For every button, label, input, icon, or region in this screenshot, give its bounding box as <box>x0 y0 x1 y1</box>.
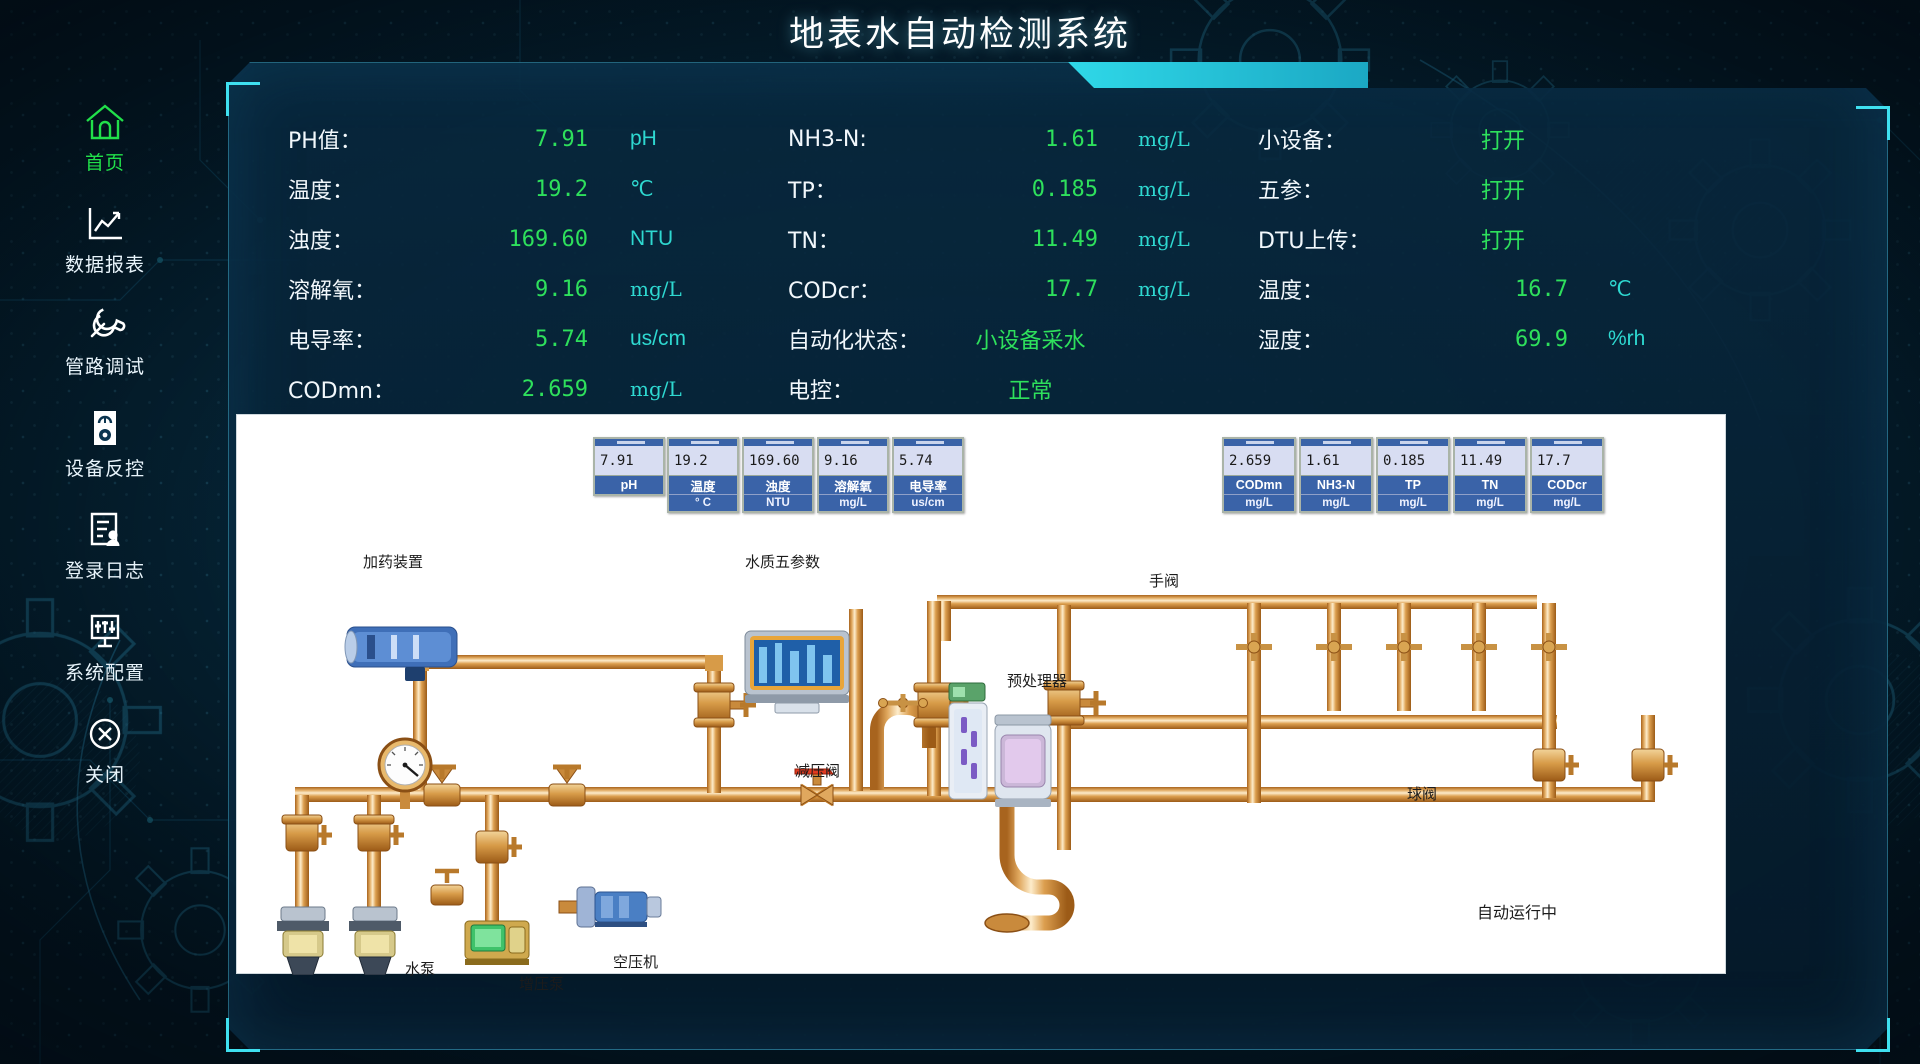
readout-unit: %rh <box>1608 327 1645 351</box>
readout-unit: mg/L <box>1138 277 1190 301</box>
label-hand-valve: 手阀 <box>1149 570 1179 591</box>
readout-value: 正常 <box>963 373 1098 405</box>
readout-row-electric-control: 电控： 正常 <box>788 364 1218 414</box>
gauge-cap <box>1455 439 1525 446</box>
gauge-name: 温度 <box>669 475 737 494</box>
readout-label: 自动化状态： <box>788 323 963 355</box>
label-pretreatment: 预处理器 <box>1007 670 1067 691</box>
label-boost-pump: 增压泵 <box>519 973 564 994</box>
readout-row: 小设备： 打开 <box>1258 114 1728 164</box>
panel-corner-top-right <box>1856 106 1890 140</box>
readout-value: 7.91 <box>458 127 588 152</box>
readout-row: 浊度： 169.60 NTU <box>288 214 718 264</box>
label-relief-valve: 减压阀 <box>795 760 840 781</box>
panel-corner-bottom-left <box>226 1018 260 1052</box>
readout-unit: us/cm <box>630 327 686 351</box>
sidebar-item-device-control[interactable]: 设备反控 <box>40 406 170 494</box>
gauge-name: NH3-N <box>1301 475 1371 494</box>
readout-value: 19.2 <box>458 177 588 202</box>
readout-row-automation-state: 自动化状态： 小设备采水 <box>788 314 1218 364</box>
sidebar-item-label: 登录日志 <box>65 556 145 583</box>
gauge-box: 17.7 CODcr mg/L <box>1530 437 1604 513</box>
readout-value: 17.7 <box>963 277 1098 302</box>
five-parameter-analyzer-icon <box>745 631 849 713</box>
gauge-unit: mg/L <box>819 494 887 511</box>
gauge-box: 0.185 TP mg/L <box>1376 437 1450 513</box>
gauge-name: 溶解氧 <box>819 475 887 494</box>
sidebar-item-label: 首页 <box>85 148 125 175</box>
gauge-name: 电导率 <box>894 475 962 494</box>
gauge-name: TN <box>1455 475 1525 494</box>
readout-row: 湿度： 69.9 %rh <box>1258 314 1728 364</box>
chart-icon <box>84 202 126 246</box>
status-badge: 打开 <box>1438 223 1568 255</box>
readout-value: 11.49 <box>963 227 1098 252</box>
boost-pump-icon <box>465 921 529 965</box>
readout-value: 1.61 <box>963 127 1098 152</box>
readout-value: 16.7 <box>1438 277 1568 302</box>
readout-value: 69.9 <box>1438 327 1568 352</box>
gauge-box: 5.74 电导率 us/cm <box>892 437 964 513</box>
readout-column-water-quality: PH值： 7.91 pH 温度： 19.2 ℃ 浊度： 169.60 NTU 溶… <box>288 114 718 414</box>
sidebar-item-data-report[interactable]: 数据报表 <box>40 202 170 290</box>
gauge-value: 7.91 <box>595 446 663 475</box>
readout-row: TP： 0.185 mg/L <box>788 164 1218 214</box>
gauge-unit: mg/L <box>1378 494 1448 511</box>
gauge-cap <box>595 439 663 446</box>
gauge-box: 1.61 NH3-N mg/L <box>1299 437 1373 513</box>
readout-label: 小设备： <box>1258 123 1438 155</box>
readout-label: 电控： <box>788 373 963 405</box>
readout-label: 浊度： <box>288 223 458 255</box>
label-air-compressor: 空压机 <box>613 951 658 972</box>
log-user-icon <box>85 508 125 552</box>
label-water-pump: 水泵 <box>405 958 435 979</box>
readout-column-device-status: 小设备： 打开 五参： 打开 DTU上传： 打开 温度： 16.7 ℃ 湿度： … <box>1258 114 1728 364</box>
readout-label: CODmn： <box>288 373 458 405</box>
readout-row: CODmn： 2.659 mg/L <box>288 364 718 414</box>
status-badge: 打开 <box>1438 123 1568 155</box>
readout-label: CODcr： <box>788 273 963 305</box>
gauge-box: 9.16 溶解氧 mg/L <box>817 437 889 513</box>
device-icon <box>85 406 125 450</box>
readout-row: 温度： 16.7 ℃ <box>1258 264 1728 314</box>
sidebar-item-login-log[interactable]: 登录日志 <box>40 508 170 596</box>
sidebar-item-label: 数据报表 <box>65 250 145 277</box>
gauge-cap <box>1378 439 1448 446</box>
readout-label: 溶解氧： <box>288 273 458 305</box>
gauge-unit: mg/L <box>1301 494 1371 511</box>
readout-unit: mg/L <box>1138 227 1190 251</box>
gauge-value: 1.61 <box>1301 446 1371 475</box>
readout-label: 电导率： <box>288 323 458 355</box>
readout-row: 溶解氧： 9.16 mg/L <box>288 264 718 314</box>
readout-row: CODcr： 17.7 mg/L <box>788 264 1218 314</box>
sliders-icon <box>84 610 126 654</box>
gauge-unit: us/cm <box>894 494 962 511</box>
gauge-box: 7.91 pH <box>593 437 665 496</box>
water-pump-icon <box>349 907 401 975</box>
readout-unit: mg/L <box>630 377 682 401</box>
readout-row: NH3-N: 1.61 mg/L <box>788 114 1218 164</box>
close-x-icon <box>85 712 125 756</box>
dosing-device-icon <box>345 627 457 681</box>
readout-unit: mg/L <box>1138 127 1190 151</box>
gauge-value: 2.659 <box>1224 446 1294 475</box>
gauge-cap <box>744 439 812 446</box>
gauge-unit: NTU <box>744 494 812 511</box>
readout-unit: pH <box>630 127 657 151</box>
readout-value: 9.16 <box>458 277 588 302</box>
panel-accent-bar <box>1068 62 1368 88</box>
readout-unit: NTU <box>630 227 673 251</box>
gauge-cap <box>1301 439 1371 446</box>
label-ball-valve: 球阀 <box>1407 783 1437 804</box>
readout-row: TN： 11.49 mg/L <box>788 214 1218 264</box>
readout-label: PH值： <box>288 123 458 155</box>
gauge-box: 11.49 TN mg/L <box>1453 437 1527 513</box>
label-five-parameter: 水质五参数 <box>745 551 820 572</box>
gauge-name: 浊度 <box>744 475 812 494</box>
sidebar-item-label: 管路调试 <box>65 352 145 379</box>
label-dosing-device: 加药装置 <box>363 551 423 572</box>
sidebar: 首页 数据报表 管路调试 <box>40 100 170 814</box>
sidebar-item-home[interactable]: 首页 <box>40 100 170 188</box>
manifold-valve-group <box>1236 633 1567 661</box>
gauge-unit: ° C <box>669 494 737 511</box>
gauge-box: 2.659 CODmn mg/L <box>1222 437 1296 513</box>
gauge-cap <box>819 439 887 446</box>
sidebar-item-system-config[interactable]: 系统配置 <box>40 610 170 698</box>
sidebar-item-pipe-debug[interactable]: 管路调试 <box>40 304 170 392</box>
gauge-box: 169.60 浊度 NTU <box>742 437 814 513</box>
readout-unit: mg/L <box>1138 177 1190 201</box>
diagram-status-text: 自动运行中 <box>1477 899 1557 923</box>
gauge-cap <box>669 439 737 446</box>
gauge-cap <box>1224 439 1294 446</box>
gauge-name: CODcr <box>1532 475 1602 494</box>
gauge-cap <box>894 439 962 446</box>
readout-row: 电导率： 5.74 us/cm <box>288 314 718 364</box>
readout-value: 5.74 <box>458 327 588 352</box>
process-diagram: 7.91 pH 19.2 温度 ° C 169.60 浊度 NTU 9.16 溶… <box>236 414 1726 974</box>
gauge-value: 11.49 <box>1455 446 1525 475</box>
gauge-value: 5.74 <box>894 446 962 475</box>
panel-corner-top-left <box>226 82 260 116</box>
readout-value: 169.60 <box>458 227 588 252</box>
readout-unit: ℃ <box>1608 277 1632 302</box>
page-title: 地表水自动检测系统 <box>0 6 1920 57</box>
readout-value: 2.659 <box>458 377 588 402</box>
gauge-name: TP <box>1378 475 1448 494</box>
readout-unit: mg/L <box>630 277 682 301</box>
gauge-value: 9.16 <box>819 446 887 475</box>
readout-value: 小设备采水 <box>963 323 1098 355</box>
home-icon <box>84 100 126 144</box>
sidebar-item-close[interactable]: 关闭 <box>40 712 170 800</box>
sidebar-item-label: 设备反控 <box>65 454 145 481</box>
main-panel: PH值： 7.91 pH 温度： 19.2 ℃ 浊度： 169.60 NTU 溶… <box>228 62 1888 1050</box>
readout-label: TP： <box>788 173 963 205</box>
gauge-cap <box>1532 439 1602 446</box>
readout-label: 温度： <box>1258 273 1438 305</box>
readout-value: 0.185 <box>963 177 1098 202</box>
gauge-value: 17.7 <box>1532 446 1602 475</box>
readout-label: NH3-N: <box>788 127 963 152</box>
status-badge: 打开 <box>1438 173 1568 205</box>
readout-column-nutrients: NH3-N: 1.61 mg/L TP： 0.185 mg/L TN： 11.4… <box>788 114 1218 414</box>
readout-unit: ℃ <box>630 177 654 202</box>
gauge-value: 0.185 <box>1378 446 1448 475</box>
water-pump-icon <box>277 907 329 975</box>
readout-label: 温度： <box>288 173 458 205</box>
readout-row: 五参： 打开 <box>1258 164 1728 214</box>
readout-label: 五参： <box>1258 173 1438 205</box>
panel-corner-bottom-right <box>1856 1018 1890 1052</box>
sidebar-item-label: 关闭 <box>85 760 125 787</box>
readout-label: DTU上传： <box>1258 223 1438 255</box>
gauge-box: 19.2 温度 ° C <box>667 437 739 513</box>
gauge-unit: mg/L <box>1224 494 1294 511</box>
readout-row: DTU上传： 打开 <box>1258 214 1728 264</box>
readout-label: 湿度： <box>1258 323 1438 355</box>
gauge-unit: mg/L <box>1455 494 1525 511</box>
readout-label: TN： <box>788 223 963 255</box>
readout-row: PH值： 7.91 pH <box>288 114 718 164</box>
gauge-value: 19.2 <box>669 446 737 475</box>
gauge-name: pH <box>595 475 663 494</box>
air-compressor-icon <box>559 887 661 927</box>
wrench-icon <box>84 304 126 348</box>
gauge-value: 169.60 <box>744 446 812 475</box>
gauge-unit: mg/L <box>1532 494 1602 511</box>
gauge-name: CODmn <box>1224 475 1294 494</box>
readout-row: 温度： 19.2 ℃ <box>288 164 718 214</box>
sidebar-item-label: 系统配置 <box>65 658 145 685</box>
